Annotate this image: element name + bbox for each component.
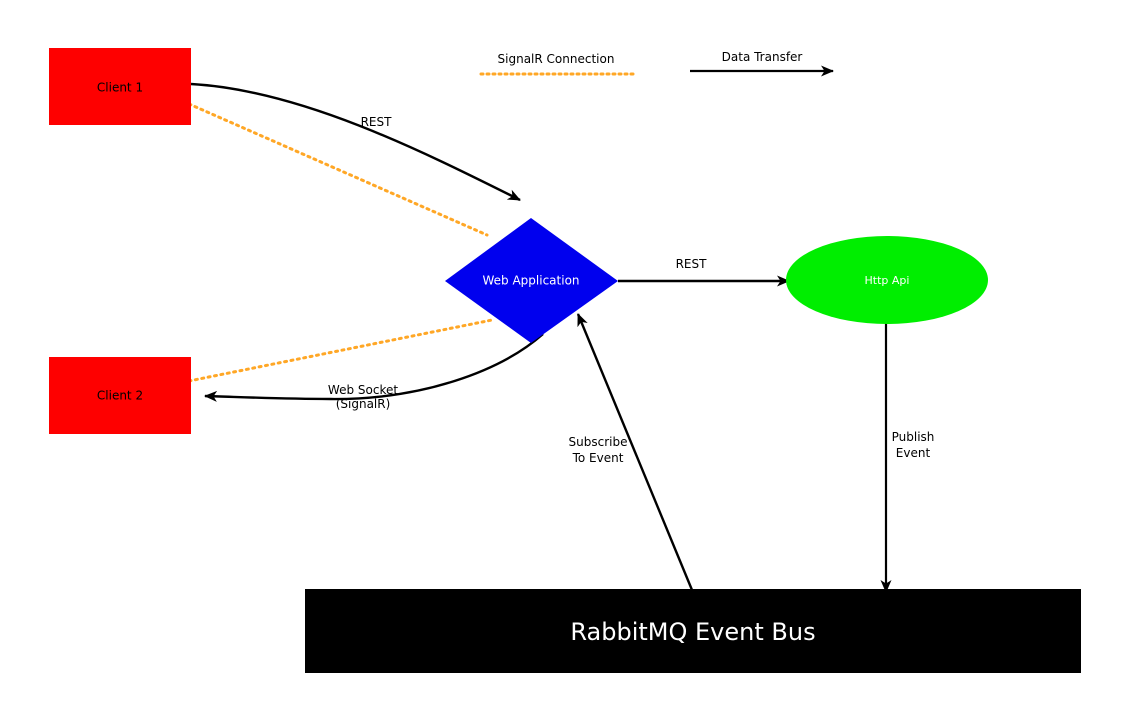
edge-websocket: Web Socket (SignalR) xyxy=(205,334,543,411)
edge-subscribe-label-line1: Subscribe xyxy=(569,435,628,449)
edge-client1-rest-line xyxy=(191,84,520,200)
edge-client1-rest-label: REST xyxy=(361,115,393,129)
legend-data-transfer-label: Data Transfer xyxy=(722,50,803,64)
edge-client1-signalr-line xyxy=(189,104,487,235)
node-http-api[interactable]: Http Api xyxy=(786,236,988,324)
node-client2[interactable]: Client 2 xyxy=(49,357,191,434)
edge-websocket-label-line2: (SignalR) xyxy=(336,397,391,411)
node-event-bus[interactable]: RabbitMQ Event Bus xyxy=(305,589,1081,673)
edge-api-rest-label: REST xyxy=(676,257,708,271)
node-client1[interactable]: Client 1 xyxy=(49,48,191,125)
legend-signalr-label: SignalR Connection xyxy=(498,52,615,66)
legend: SignalR Connection Data Transfer xyxy=(481,50,833,74)
node-web-application-label: Web Application xyxy=(482,274,579,288)
edge-subscribe-label-line2: To Event xyxy=(572,451,624,465)
edge-publish-label-line1: Publish xyxy=(892,430,935,444)
node-client1-label: Client 1 xyxy=(97,81,143,95)
edge-client2-signalr-line xyxy=(189,320,492,381)
node-client2-label: Client 2 xyxy=(97,389,143,403)
diagram-canvas: SignalR Connection Data Transfer REST We… xyxy=(0,0,1139,709)
edge-publish: Publish Event xyxy=(886,322,934,592)
edge-api-rest: REST xyxy=(618,257,789,281)
architecture-diagram: SignalR Connection Data Transfer REST We… xyxy=(0,0,1139,709)
edge-subscribe: Subscribe To Event xyxy=(569,314,692,590)
node-event-bus-label: RabbitMQ Event Bus xyxy=(570,618,815,646)
edge-client1-rest: REST xyxy=(191,84,520,200)
edge-publish-label-line2: Event xyxy=(896,446,931,460)
node-http-api-label: Http Api xyxy=(865,274,910,287)
edge-websocket-label-line1: Web Socket xyxy=(328,383,398,397)
